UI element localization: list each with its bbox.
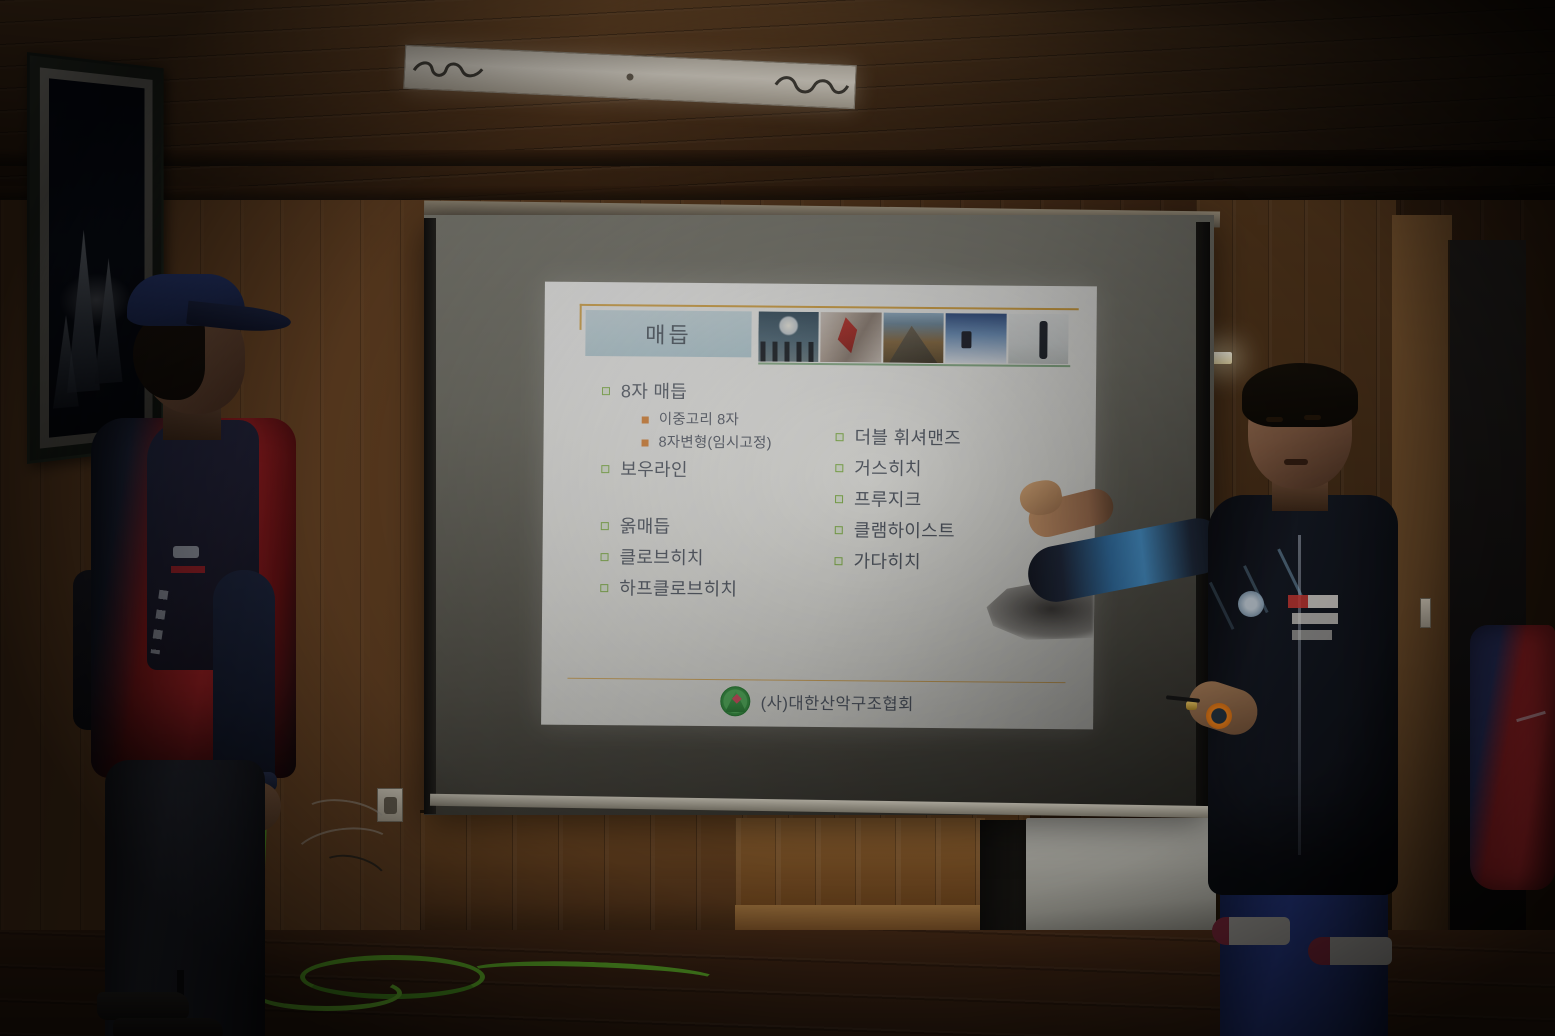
bullet-marker-green — [601, 553, 609, 561]
bullet-item: 8자 매듭 — [602, 378, 852, 406]
bullet-item: 거스히치 — [835, 455, 1065, 483]
jacket-chest-patch — [1288, 595, 1338, 608]
organization-name: (사)대한산악구조협회 — [761, 689, 914, 714]
slide-footer: (사)대한산악구조협회 — [541, 681, 1093, 724]
slide-accent-rule-top — [580, 304, 1079, 310]
green-triangle-emblem-icon — [721, 686, 751, 716]
person-left-assistant — [55, 270, 290, 1036]
light-fixture-scrollwork-left — [410, 56, 489, 82]
bullet-label: 클로브히치 — [619, 544, 704, 571]
bullet-label: 하프클로브히치 — [619, 575, 737, 602]
lone-climber-photo — [1008, 314, 1069, 365]
bullet-label: 옭매듭 — [620, 513, 671, 540]
bullet-label: 가다히치 — [853, 549, 921, 576]
shoe — [97, 992, 189, 1020]
hair — [133, 314, 205, 400]
bullet-item: 보우라인 — [601, 456, 851, 484]
jacket-round-patch — [1238, 591, 1264, 617]
jacket-zipper — [1298, 535, 1301, 855]
eye — [1266, 417, 1283, 422]
bullet-item: 더블 휘셔맨즈 — [835, 424, 1065, 452]
slide-title-box: 매듭 — [585, 310, 751, 357]
sock — [1212, 917, 1290, 945]
jacket-chest-patch — [1292, 613, 1338, 624]
bullet-marker-green — [600, 584, 608, 592]
bullet-label: 프루지크 — [854, 486, 922, 513]
bullet-marker-green — [835, 464, 843, 472]
slide-left-column: 8자 매듭 이중고리 8자 8자변형(임시고정) 보우라인 옭매듭 — [600, 378, 852, 608]
cabinet-shadow — [980, 820, 1030, 940]
climbers-silhouette-photo — [758, 311, 819, 362]
jacket-logo — [173, 546, 199, 558]
bullet-marker-orange — [642, 417, 649, 424]
bullet-label: 8자 매듭 — [621, 378, 687, 405]
slide-accent-rule-left — [580, 304, 582, 330]
sock — [1308, 937, 1392, 965]
presentation-room-scene: 매듭 8자 매듭 이중고리 8자 8자변형(임 — [0, 0, 1555, 1036]
bullet-label: 더블 휘셔맨즈 — [854, 424, 961, 451]
shoe — [113, 1018, 223, 1036]
sub-bullet-item: 8자변형(임시고정) — [641, 433, 851, 455]
bullet-marker-green — [602, 387, 610, 395]
hair — [1242, 363, 1358, 427]
light-fixture-scrollwork-right — [771, 72, 850, 98]
bullet-marker-green — [601, 465, 609, 473]
ceiling-shadow — [0, 0, 1555, 215]
jacket-chest-patch — [1292, 630, 1332, 640]
bullet-marker-green — [835, 526, 843, 534]
projected-slide: 매듭 8자 매듭 이중고리 8자 8자변형(임 — [541, 282, 1097, 730]
bullet-label: 거스히치 — [854, 455, 922, 482]
bullet-item: 하프클로브히치 — [600, 575, 850, 603]
bullet-marker-green — [601, 522, 609, 530]
screen-edge-left — [424, 218, 436, 814]
sub-bullet-item: 이중고리 8자 — [642, 410, 852, 432]
bullet-spacer — [601, 487, 851, 515]
bullet-marker-orange — [642, 440, 649, 447]
hanging-jacket — [1470, 625, 1555, 890]
mountain-ridge-photo — [883, 313, 944, 364]
bullet-item: 클로브히치 — [600, 544, 850, 572]
slide-header-image-strip — [758, 311, 1068, 364]
eye — [1304, 415, 1321, 420]
bullet-label: 클램하이스트 — [854, 518, 955, 545]
person-right-presenter — [1180, 355, 1440, 1036]
jacket-logo-band — [171, 566, 205, 573]
snow-slope-photo — [945, 313, 1006, 364]
bullet-item: 옭매듭 — [601, 513, 851, 541]
bullet-marker-green — [834, 558, 842, 566]
mouth — [1284, 459, 1308, 465]
sub-bullet-label: 8자변형(임시고정) — [658, 433, 771, 454]
baseboard — [735, 905, 985, 931]
bullet-marker-green — [835, 495, 843, 503]
slide-title: 매듭 — [645, 317, 692, 349]
bullet-label: 보우라인 — [620, 456, 688, 483]
ice-climbing-photo — [821, 312, 882, 363]
bullet-marker-green — [836, 433, 844, 441]
sub-bullet-label: 이중고리 8자 — [659, 410, 739, 431]
